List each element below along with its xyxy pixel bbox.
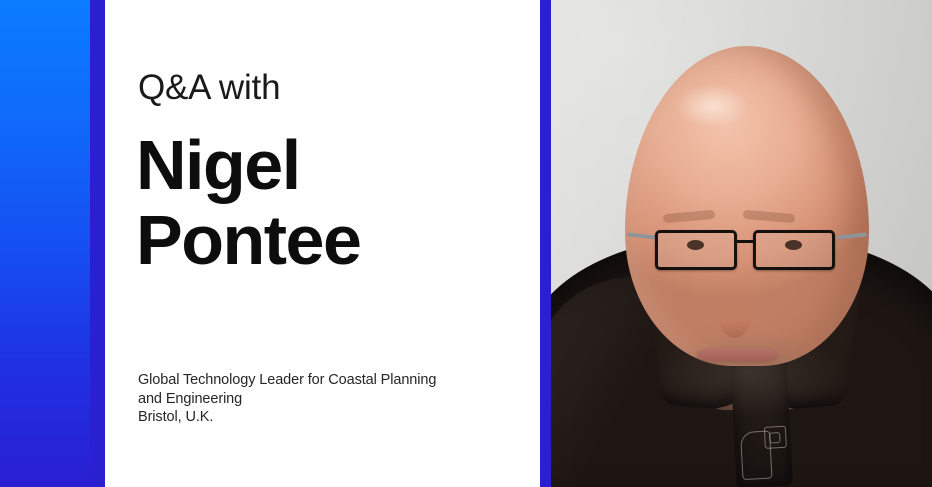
subject-portrait-photo [551, 0, 932, 487]
glasses-temple-right [837, 232, 867, 239]
portrait-tie-pattern-3 [740, 431, 772, 481]
portrait-eye-left [687, 240, 704, 250]
portrait-jaw-stubble [655, 330, 839, 416]
name-line-last: Pontee [136, 207, 526, 274]
portrait-nose [717, 280, 753, 338]
name-line-first: Nigel [136, 132, 526, 199]
portrait-tie-pattern-2 [769, 432, 781, 444]
portrait-mouth [697, 348, 777, 361]
glasses-lens-right [753, 230, 835, 270]
eyebrow-label: Q&A with [138, 70, 280, 107]
portrait-eye-right [785, 240, 802, 250]
portrait-scalp-highlight [675, 84, 749, 128]
role-line-1: Global Technology Leader for Coastal Pla… [138, 371, 528, 390]
glasses-bridge [737, 240, 753, 243]
qa-intro-slide: Q&A with Nigel Pontee Global Technology … [0, 0, 932, 487]
glasses-temple-left [627, 232, 657, 239]
text-panel: Q&A with Nigel Pontee Global Technology … [105, 0, 540, 487]
role-line-2: and Engineering [138, 390, 528, 409]
subject-role: Global Technology Leader for Coastal Pla… [138, 371, 528, 427]
subject-name: Nigel Pontee [136, 132, 526, 273]
left-gradient-band [0, 0, 90, 487]
portrait-glasses [629, 222, 869, 278]
glasses-lens-left [655, 230, 737, 270]
role-line-3: Bristol, U.K. [138, 408, 528, 427]
right-accent-bar [540, 0, 551, 487]
left-accent-strip [90, 0, 105, 487]
